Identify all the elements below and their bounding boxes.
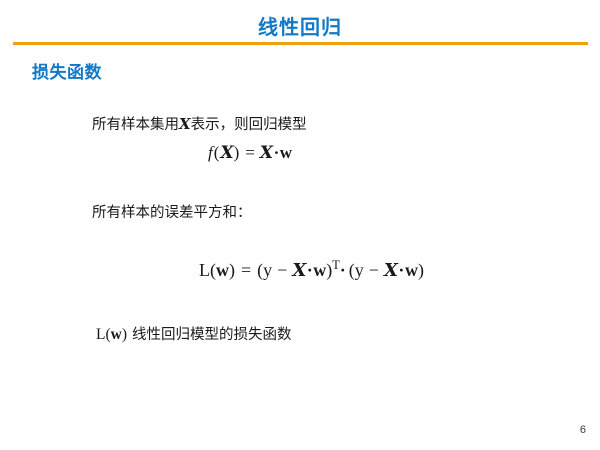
formula-2-term1-vector-w: w bbox=[313, 260, 326, 280]
paragraph-3-w: w bbox=[111, 326, 122, 343]
formula-regression-model: f(X)=X·w bbox=[208, 143, 292, 163]
formula-2-term2-y: y bbox=[355, 260, 364, 280]
paragraph-1-pre-text: 所有样本集用 bbox=[92, 117, 179, 133]
formula-2-term2-dot: · bbox=[398, 260, 405, 280]
slide: 线性回归 损失函数 所有样本集用X表示，则回归模型 f(X)=X·w 所有样本的… bbox=[0, 0, 600, 450]
paragraph-loss-function-caption: L(w)线性回归模型的损失函数 bbox=[96, 326, 292, 345]
formula-2-term2-minus: − bbox=[364, 260, 384, 280]
formula-2-transpose: T bbox=[332, 258, 339, 272]
formula-1-equals: = bbox=[239, 143, 260, 162]
formula-1-arg-x: X bbox=[220, 143, 233, 163]
page-number: 6 bbox=[580, 424, 586, 436]
paragraph-2-text: 所有样本的误差平方和： bbox=[92, 205, 252, 221]
formula-2-term1-y: y bbox=[263, 260, 272, 280]
paragraph-sample-set: 所有样本集用X表示，则回归模型 bbox=[92, 115, 307, 134]
formula-1-vector-w: w bbox=[280, 143, 292, 162]
formula-2-multiply-dot: · bbox=[340, 260, 349, 280]
formula-1-dot-operator: · bbox=[273, 143, 280, 162]
paragraph-1-post-text: 表示，则回归模型 bbox=[191, 117, 307, 133]
paragraph-3-text: 线性回归模型的损失函数 bbox=[127, 327, 292, 343]
paragraph-sum-squared-errors: 所有样本的误差平方和： bbox=[92, 205, 252, 222]
formula-2-l: L bbox=[199, 260, 210, 280]
formula-2-term1-matrix-x: X bbox=[292, 260, 306, 281]
formula-1-matrix-x: X bbox=[260, 143, 273, 163]
formula-2-term2-close: ) bbox=[418, 260, 424, 280]
formula-2-term2-vector-w: w bbox=[405, 260, 418, 280]
slide-body: 所有样本集用X表示，则回归模型 f(X)=X·w 所有样本的误差平方和： L(w… bbox=[0, 0, 600, 450]
formula-loss-function: L(w)=(y−X·w)T·(y−X·w) bbox=[199, 258, 424, 281]
formula-2-term2-matrix-x: X bbox=[384, 260, 398, 281]
formula-2-term1-minus: − bbox=[272, 260, 292, 280]
formula-2-equals: = bbox=[235, 260, 257, 280]
paragraph-1-symbol-x: X bbox=[179, 115, 191, 133]
formula-2-w: w bbox=[216, 260, 229, 280]
